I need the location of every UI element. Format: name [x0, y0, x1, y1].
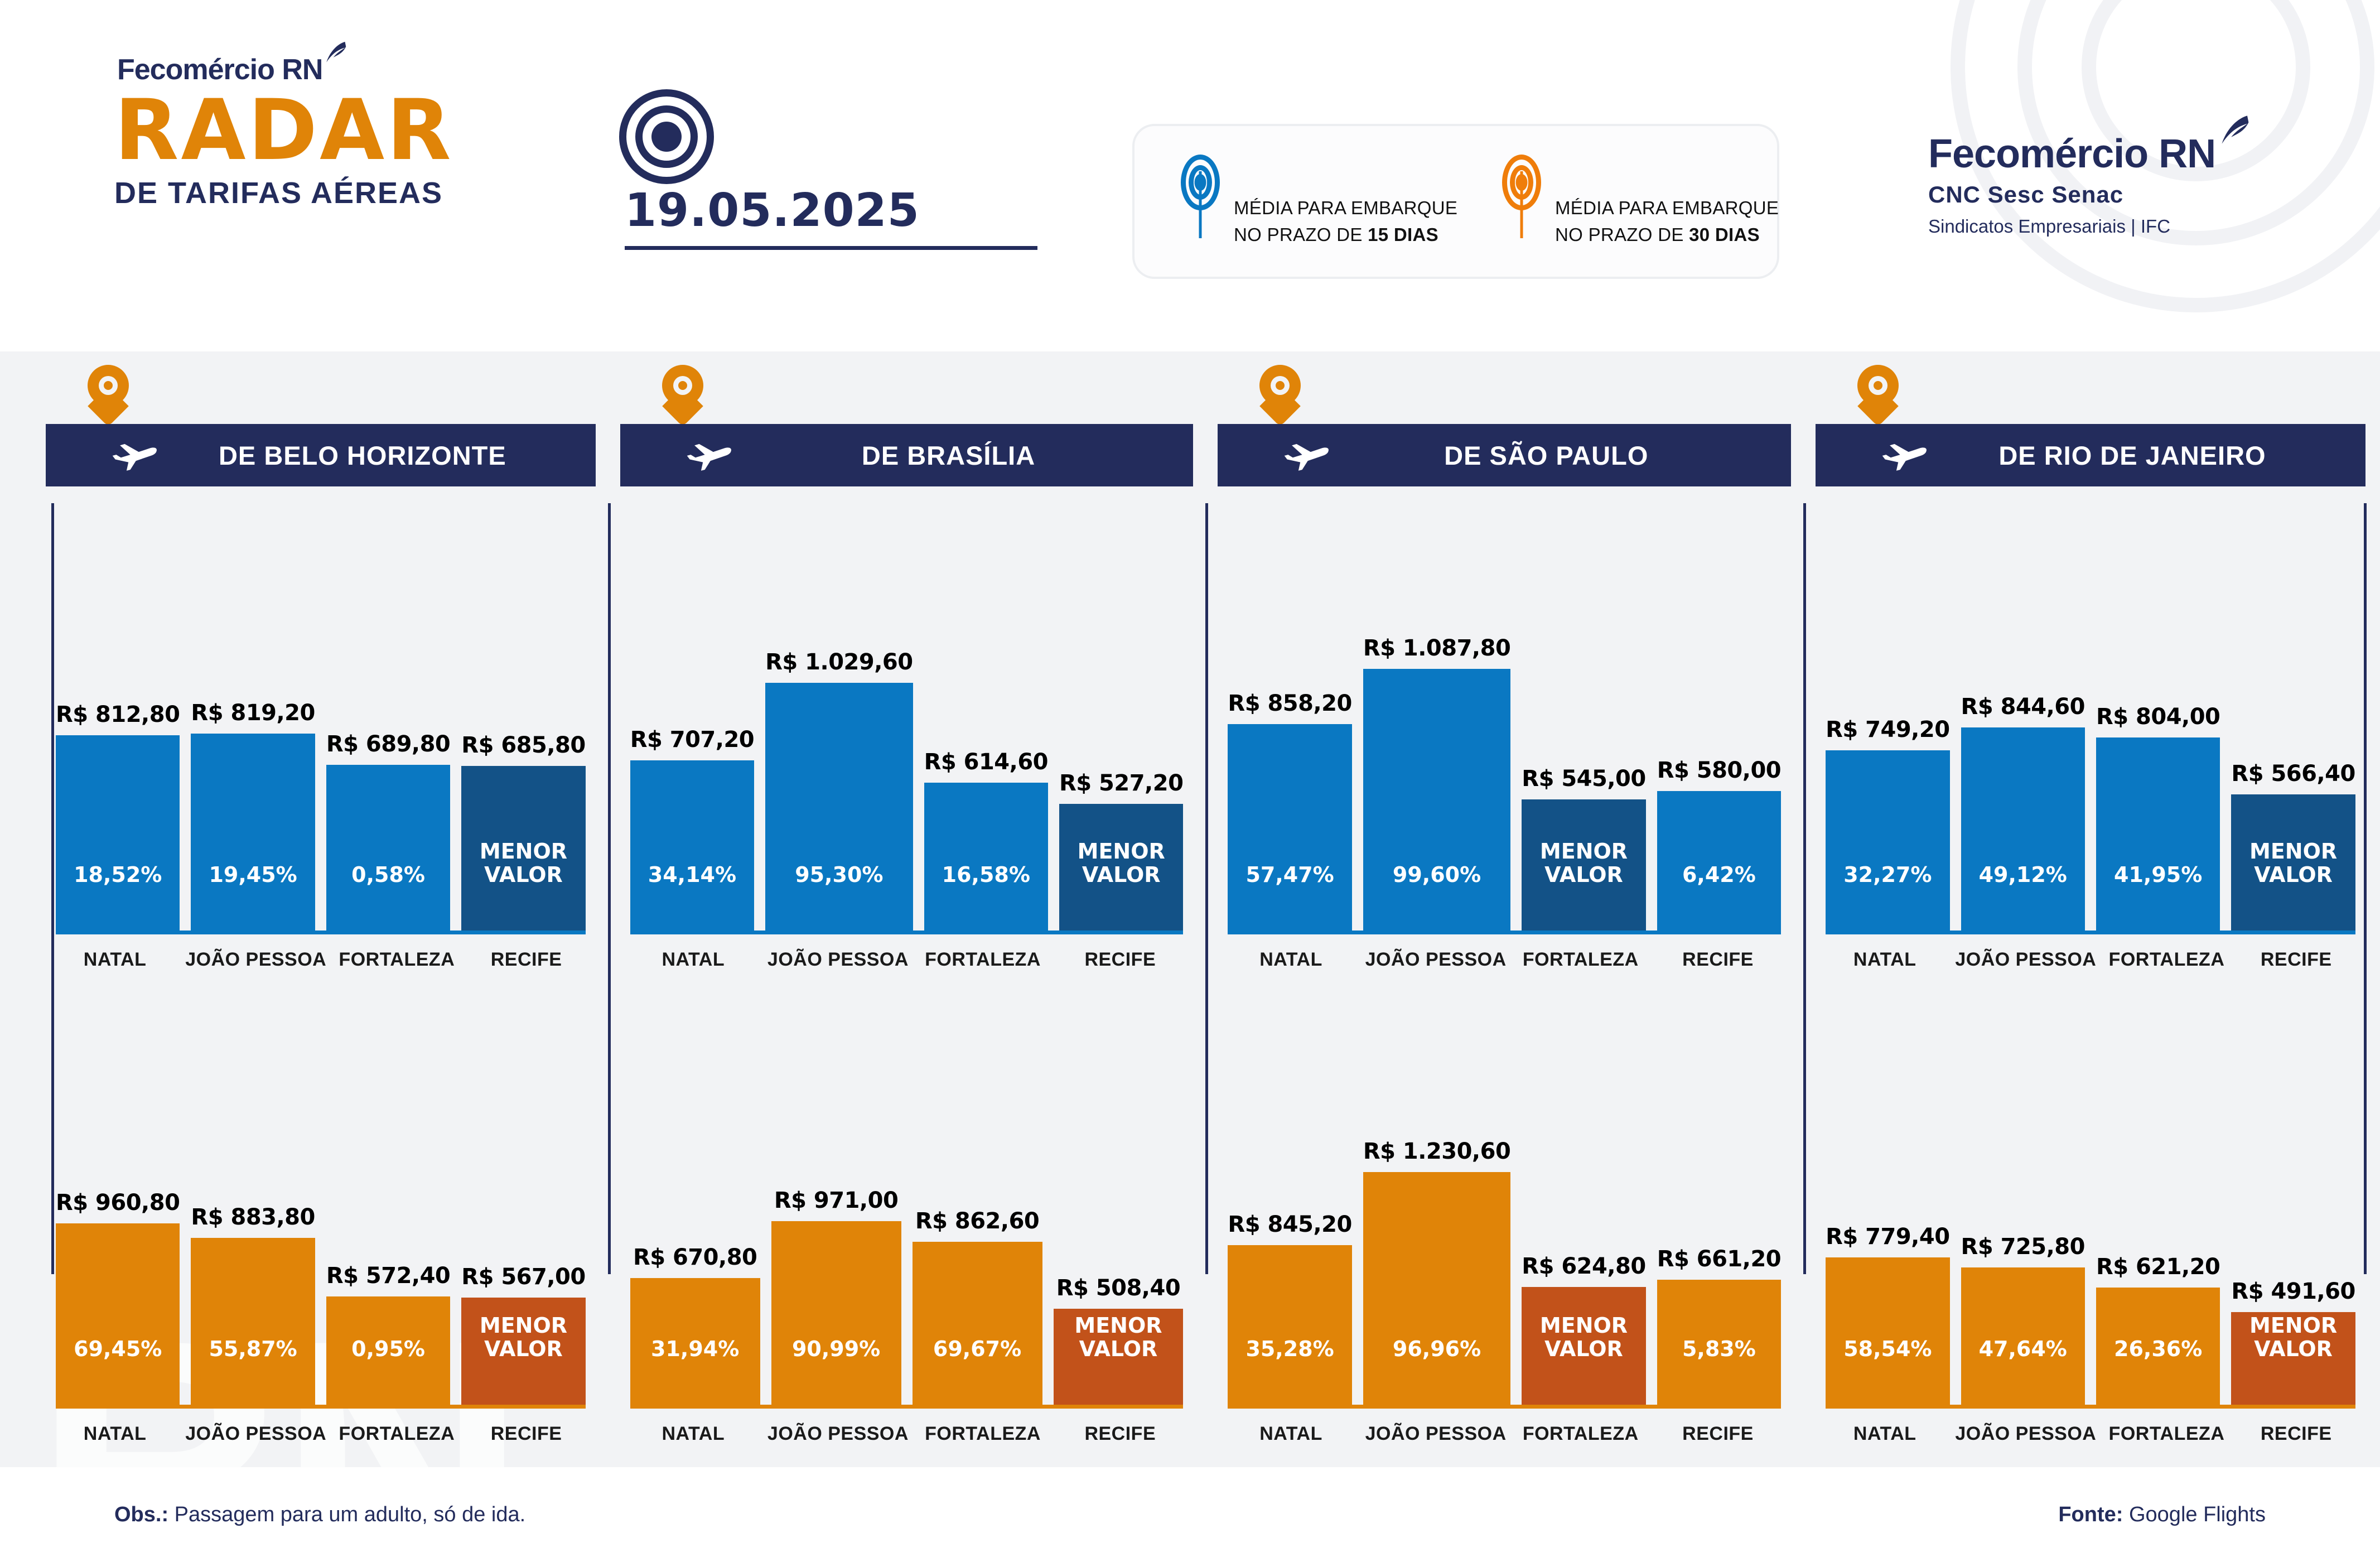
bar[interactable]: 34,14% — [630, 760, 754, 931]
category-label: JOÃO PESSOA — [185, 1423, 326, 1445]
brand-logo-left: Fecomércio RN RADAR DE TARIFAS AÉREAS — [114, 53, 672, 210]
bar-group: R$ 624,80 MENOR VALOR — [1522, 1254, 1645, 1405]
bar-value-label: R$ 491,60 — [2231, 1279, 2355, 1304]
brand-right-tagline: Sindicatos Empresariais | IFC — [1928, 216, 2285, 237]
legend-item-30-dias: MÉDIA PARA EMBARQUE NO PRAZO DE 30 DIAS — [1456, 155, 1777, 248]
page-subtitle: DE TARIFAS AÉREAS — [114, 176, 672, 210]
category-label: NATAL — [1228, 949, 1354, 971]
charts-sheet: RN DE BELO HORIZONTE R$ 812,80 18,52% — [0, 351, 2380, 1467]
chart-7: R$ 779,40 58,54% R$ 725,80 47,64% R$ 621… — [1816, 1054, 2365, 1445]
chart-0: R$ 812,80 18,52% R$ 819,20 19,45% R$ 689… — [46, 491, 596, 971]
axis-line — [1228, 1405, 1781, 1409]
legend-text-30-dias: MÉDIA PARA EMBARQUE NO PRAZO DE 30 DIAS — [1555, 155, 1779, 248]
bar-value-label: R$ 804,00 — [2096, 704, 2220, 730]
bar[interactable]: 99,60% — [1363, 669, 1510, 931]
date-underline — [625, 246, 1037, 250]
bar-group: R$ 491,60 MENOR VALOR — [2231, 1279, 2355, 1405]
legend-line1-30: MÉDIA PARA EMBARQUE — [1555, 195, 1779, 221]
bar-percent-label: MENOR VALOR — [1078, 840, 1165, 931]
bar-value-label: R$ 572,40 — [326, 1263, 450, 1289]
feather-icon — [324, 41, 347, 65]
brand-left-name: Fecomércio RN — [117, 53, 322, 86]
bar-group: R$ 779,40 58,54% — [1826, 1224, 1949, 1405]
bar-group: R$ 621,20 26,36% — [2096, 1254, 2220, 1405]
airplane-icon — [1881, 438, 1928, 472]
legend-line2-prefix-30: NO PRAZO DE — [1555, 224, 1689, 245]
bar[interactable]: 32,27% — [1826, 750, 1949, 931]
legend-card: MÉDIA PARA EMBARQUE NO PRAZO DE 15 DIAS … — [1132, 124, 1779, 279]
brand-right-name-row: Fecomércio RN — [1928, 131, 2285, 177]
category-label: RECIFE — [1057, 1423, 1183, 1445]
bar-value-label: R$ 685,80 — [461, 732, 585, 758]
radar-target-icon-orange — [1500, 155, 1543, 244]
bars-container: R$ 707,20 34,14% R$ 1.029,60 95,30% R$ 6… — [630, 649, 1184, 931]
bar-group: R$ 566,40 MENOR VALOR — [2231, 761, 2355, 931]
bar-value-label: R$ 725,80 — [1961, 1234, 2085, 1260]
bar[interactable]: 58,54% — [1826, 1257, 1949, 1405]
bar-value-label: R$ 527,20 — [1059, 770, 1183, 796]
bar-group: R$ 661,20 5,83% — [1657, 1246, 1781, 1405]
category-label: FORTALEZA — [2107, 949, 2225, 971]
bar-value-label: R$ 545,00 — [1522, 766, 1645, 792]
footer-note-label: Obs.: — [114, 1503, 168, 1526]
bar-value-label: R$ 614,60 — [924, 749, 1048, 775]
location-pin-icon — [88, 365, 129, 423]
bar-percent-label: 58,54% — [1843, 1337, 1932, 1405]
category-label: RECIFE — [467, 949, 585, 971]
bar-group: R$ 527,20 MENOR VALOR — [1059, 770, 1183, 931]
airplane-icon — [686, 438, 733, 472]
radar-target-icon — [616, 86, 717, 187]
location-pin-icon — [662, 365, 703, 423]
category-label: RECIFE — [2237, 1423, 2355, 1445]
origin-title-bar: DE RIO DE JANEIRO — [1816, 424, 2365, 486]
origin-title: DE BELO HORIZONTE — [163, 440, 579, 471]
bar-group: R$ 812,80 18,52% — [56, 702, 180, 931]
footer-note: Obs.: Passagem para um adulto, só de ida… — [114, 1503, 525, 1527]
bar-percent-label: MENOR VALOR — [2249, 1314, 2337, 1405]
axis-line — [1826, 1405, 2355, 1409]
bar[interactable]: MENOR VALOR — [1054, 1309, 1184, 1405]
bar-percent-label: 19,45% — [209, 863, 297, 931]
bar-group: R$ 670,80 31,94% — [630, 1245, 760, 1405]
bar-percent-label: MENOR VALOR — [2249, 840, 2337, 931]
bar-value-label: R$ 508,40 — [1056, 1275, 1180, 1301]
category-label: JOÃO PESSOA — [1955, 949, 2096, 971]
bar-percent-label: MENOR VALOR — [1540, 1314, 1628, 1405]
bars-container: R$ 779,40 58,54% R$ 725,80 47,64% R$ 621… — [1826, 1224, 2355, 1405]
bar[interactable]: MENOR VALOR — [1522, 1287, 1645, 1405]
axis-line — [1826, 931, 2355, 934]
location-pin-icon — [1857, 365, 1899, 423]
charts-columns: DE BELO HORIZONTE R$ 812,80 18,52% R$ 81… — [0, 351, 2380, 1467]
category-label: NATAL — [1826, 949, 1944, 971]
bar-group: R$ 707,20 34,14% — [630, 727, 754, 931]
bar-percent-label: 49,12% — [1979, 863, 2067, 931]
bar-percent-label: 34,14% — [648, 863, 736, 931]
brand-logo-right: Fecomércio RN CNC Sesc Senac Sindicatos … — [1928, 131, 2285, 237]
bar-percent-label: 69,45% — [74, 1337, 162, 1405]
bar-group: R$ 819,20 19,45% — [191, 700, 315, 931]
bar-value-label: R$ 812,80 — [56, 702, 180, 727]
bar[interactable]: MENOR VALOR — [1522, 799, 1645, 931]
bar[interactable]: 5,83% — [1657, 1280, 1781, 1405]
bar-group: R$ 614,60 16,58% — [924, 749, 1048, 931]
category-label: FORTALEZA — [337, 949, 456, 971]
bar[interactable]: 18,52% — [56, 735, 180, 931]
axis-line — [630, 1405, 1184, 1409]
column-header: DE BRASÍLIA — [620, 351, 1194, 491]
bar-group: R$ 545,00 MENOR VALOR — [1522, 766, 1645, 931]
origin-title-bar: DE BELO HORIZONTE — [46, 424, 596, 486]
bar-value-label: R$ 689,80 — [326, 731, 450, 757]
airplane-icon — [112, 438, 158, 472]
origin-title: DE RIO DE JANEIRO — [1933, 440, 2349, 471]
category-label: FORTALEZA — [2107, 1423, 2225, 1445]
bar-group: R$ 580,00 6,42% — [1657, 758, 1781, 931]
origin-title: DE BRASÍLIA — [737, 440, 1177, 471]
category-label: NATAL — [630, 949, 756, 971]
categories-row: NATALJOÃO PESSOAFORTALEZARECIFE — [1826, 949, 2355, 971]
bar-value-label: R$ 580,00 — [1657, 758, 1781, 783]
categories-row: NATALJOÃO PESSOAFORTALEZARECIFE — [1228, 949, 1781, 971]
bar-percent-label: 18,52% — [74, 863, 162, 931]
bar[interactable]: 69,45% — [56, 1223, 180, 1405]
bar[interactable]: 90,99% — [771, 1221, 901, 1405]
bar[interactable]: 49,12% — [1961, 727, 2085, 931]
bar-percent-label: 96,96% — [1393, 1337, 1481, 1405]
category-label: JOÃO PESSOA — [767, 949, 909, 971]
bar-group: R$ 508,40 MENOR VALOR — [1054, 1275, 1184, 1405]
bar-group: R$ 725,80 47,64% — [1961, 1234, 2085, 1405]
legend-line2-bold-30: 30 DIAS — [1689, 224, 1760, 245]
page-header: Fecomércio RN RADAR DE TARIFAS AÉREAS 19… — [0, 0, 2380, 351]
origin-column-3: DE SÃO PAULO R$ 858,20 57,47% R$ 1.087,8… — [1205, 351, 1803, 1467]
chart-1: R$ 707,20 34,14% R$ 1.029,60 95,30% R$ 6… — [620, 491, 1194, 971]
airplane-icon — [1283, 438, 1330, 472]
bar-percent-label: 16,58% — [942, 863, 1030, 931]
origin-title-bar: DE SÃO PAULO — [1218, 424, 1791, 486]
column-header: DE RIO DE JANEIRO — [1816, 351, 2365, 491]
bar-value-label: R$ 858,20 — [1228, 691, 1351, 716]
origin-column-2: DE BRASÍLIA R$ 707,20 34,14% R$ 1.029,60… — [608, 351, 1206, 1467]
bar-group: R$ 971,00 90,99% — [771, 1188, 901, 1405]
bar-group: R$ 862,60 69,67% — [913, 1208, 1042, 1405]
bar-percent-label: 0,95% — [351, 1337, 425, 1405]
legend-line2-prefix-15: NO PRAZO DE — [1234, 224, 1368, 245]
bars-container: R$ 858,20 57,47% R$ 1.087,80 99,60% R$ 5… — [1228, 635, 1781, 931]
bar-value-label: R$ 624,80 — [1522, 1254, 1645, 1279]
axis-line — [1228, 931, 1781, 934]
bar-value-label: R$ 621,20 — [2096, 1254, 2220, 1280]
categories-row: NATALJOÃO PESSOAFORTALEZARECIFE — [1228, 1423, 1781, 1445]
bar-value-label: R$ 971,00 — [774, 1188, 898, 1213]
bar-group: R$ 1.029,60 95,30% — [765, 649, 913, 931]
footer-source-label: Fonte: — [2058, 1503, 2123, 1526]
bar-value-label: R$ 1.087,80 — [1363, 635, 1510, 661]
bar[interactable]: MENOR VALOR — [1059, 804, 1183, 931]
category-label: RECIFE — [1655, 1423, 1781, 1445]
bar-percent-label: 90,99% — [792, 1337, 880, 1405]
bar-group: R$ 749,20 32,27% — [1826, 717, 1949, 931]
brand-right-name: Fecomércio RN — [1928, 131, 2215, 177]
radar-target-icon-blue — [1179, 155, 1222, 244]
bar[interactable]: MENOR VALOR — [2231, 794, 2355, 931]
brand-right-entities: CNC Sesc Senac — [1928, 181, 2285, 208]
bar-value-label: R$ 960,80 — [56, 1190, 180, 1216]
bars-container: R$ 670,80 31,94% R$ 971,00 90,99% R$ 862… — [630, 1188, 1184, 1405]
category-label: RECIFE — [2237, 949, 2355, 971]
bar-percent-label: 95,30% — [795, 863, 883, 931]
bar-value-label: R$ 661,20 — [1657, 1246, 1781, 1272]
chart-2: R$ 858,20 57,47% R$ 1.087,80 99,60% R$ 5… — [1218, 491, 1791, 971]
bar-percent-label: 99,60% — [1393, 863, 1481, 931]
bar-value-label: R$ 566,40 — [2231, 761, 2355, 787]
report-date: 19.05.2025 — [625, 184, 1037, 237]
categories-row: NATALJOÃO PESSOAFORTALEZARECIFE — [56, 1423, 586, 1445]
category-label: NATAL — [630, 1423, 756, 1445]
category-label: FORTALEZA — [1518, 1423, 1644, 1445]
bar-percent-label: MENOR VALOR — [1540, 840, 1628, 931]
bar-group: R$ 689,80 0,58% — [326, 731, 450, 931]
footer-source: Fonte: Google Flights — [2058, 1503, 2266, 1527]
bar-value-label: R$ 670,80 — [633, 1245, 757, 1270]
chart-6: R$ 845,20 35,28% R$ 1.230,60 96,96% R$ 6… — [1218, 1054, 1791, 1445]
bar-value-label: R$ 567,00 — [461, 1264, 585, 1290]
chart-spacer — [1816, 971, 2365, 1054]
report-date-block: 19.05.2025 — [625, 184, 1037, 250]
bar-group: R$ 844,60 49,12% — [1961, 694, 2085, 931]
bars-container: R$ 749,20 32,27% R$ 844,60 49,12% R$ 804… — [1826, 694, 2355, 931]
category-label: FORTALEZA — [920, 1423, 1046, 1445]
category-label: JOÃO PESSOA — [185, 949, 326, 971]
category-label: FORTALEZA — [1518, 949, 1644, 971]
chart-4: R$ 960,80 69,45% R$ 883,80 55,87% R$ 572… — [46, 1054, 596, 1445]
bar-percent-label: 5,83% — [1682, 1337, 1756, 1405]
category-label: FORTALEZA — [337, 1423, 456, 1445]
bar-value-label: R$ 819,20 — [191, 700, 315, 726]
origin-title-bar: DE BRASÍLIA — [620, 424, 1194, 486]
bar[interactable]: 55,87% — [191, 1238, 315, 1405]
bar[interactable]: MENOR VALOR — [461, 1298, 585, 1405]
category-label: JOÃO PESSOA — [1365, 949, 1507, 971]
legend-text-15-dias: MÉDIA PARA EMBARQUE NO PRAZO DE 15 DIAS — [1234, 155, 1457, 248]
bar[interactable]: 31,94% — [630, 1278, 760, 1405]
bar-percent-label: 69,67% — [933, 1337, 1021, 1405]
bar-group: R$ 883,80 55,87% — [191, 1204, 315, 1405]
chart-5: R$ 670,80 31,94% R$ 971,00 90,99% R$ 862… — [620, 1054, 1194, 1445]
bar-percent-label: MENOR VALOR — [480, 840, 567, 931]
category-label: JOÃO PESSOA — [767, 1423, 909, 1445]
bars-container: R$ 845,20 35,28% R$ 1.230,60 96,96% R$ 6… — [1228, 1139, 1781, 1405]
bar[interactable]: 6,42% — [1657, 791, 1781, 931]
column-header: DE BELO HORIZONTE — [46, 351, 596, 491]
category-label: JOÃO PESSOA — [1365, 1423, 1507, 1445]
categories-row: NATALJOÃO PESSOAFORTALEZARECIFE — [630, 1423, 1184, 1445]
bar[interactable]: 41,95% — [2096, 737, 2220, 931]
bar-value-label: R$ 1.029,60 — [765, 649, 913, 675]
location-pin-icon — [1259, 365, 1301, 423]
chart-spacer — [1218, 971, 1791, 1054]
bar-value-label: R$ 845,20 — [1228, 1212, 1351, 1237]
bar-percent-label: 26,36% — [2114, 1337, 2202, 1405]
bar-percent-label: 35,28% — [1245, 1337, 1334, 1405]
bar[interactable]: MENOR VALOR — [461, 766, 585, 931]
bar-percent-label: MENOR VALOR — [480, 1314, 567, 1405]
bar-percent-label: 6,42% — [1682, 863, 1756, 931]
bar-group: R$ 685,80 MENOR VALOR — [461, 732, 585, 931]
origin-column-1: DE BELO HORIZONTE R$ 812,80 18,52% R$ 81… — [33, 351, 608, 1467]
axis-line — [56, 931, 586, 934]
brand-left-name-row: Fecomércio RN — [117, 53, 672, 86]
bar-value-label: R$ 883,80 — [191, 1204, 315, 1230]
bar-value-label: R$ 779,40 — [1826, 1224, 1949, 1250]
footer-source-text: Google Flights — [2123, 1503, 2266, 1526]
bar-group: R$ 845,20 35,28% — [1228, 1212, 1351, 1405]
bar[interactable]: 19,45% — [191, 734, 315, 931]
categories-row: NATALJOÃO PESSOAFORTALEZARECIFE — [630, 949, 1184, 971]
bar[interactable]: 57,47% — [1228, 724, 1351, 931]
chart-spacer — [46, 971, 596, 1054]
axis-line — [630, 931, 1184, 934]
bar-group: R$ 572,40 0,95% — [326, 1263, 450, 1405]
bar-group: R$ 567,00 MENOR VALOR — [461, 1264, 585, 1405]
legend-line2-bold-15: 15 DIAS — [1368, 224, 1438, 245]
bar-value-label: R$ 844,60 — [1961, 694, 2085, 720]
bar-value-label: R$ 707,20 — [630, 727, 754, 753]
footer-note-text: Passagem para um adulto, só de ida. — [168, 1503, 525, 1526]
bar[interactable]: 16,58% — [924, 783, 1048, 931]
page-title: RADAR — [114, 89, 672, 172]
axis-line — [56, 1405, 586, 1409]
bar-group: R$ 960,80 69,45% — [56, 1190, 180, 1405]
bar-percent-label: 0,58% — [351, 863, 425, 931]
chart-3: R$ 749,20 32,27% R$ 844,60 49,12% R$ 804… — [1816, 491, 2365, 971]
legend-item-15-dias: MÉDIA PARA EMBARQUE NO PRAZO DE 15 DIAS — [1135, 155, 1456, 248]
category-label: NATAL — [1228, 1423, 1354, 1445]
bar-value-label: R$ 1.230,60 — [1363, 1139, 1510, 1164]
bar-group: R$ 1.087,80 99,60% — [1363, 635, 1510, 931]
category-label: RECIFE — [467, 1423, 585, 1445]
bars-container: R$ 960,80 69,45% R$ 883,80 55,87% R$ 572… — [56, 1190, 586, 1405]
bar[interactable]: 26,36% — [2096, 1288, 2220, 1405]
column-header: DE SÃO PAULO — [1218, 351, 1791, 491]
bar[interactable]: 0,95% — [326, 1296, 450, 1405]
bars-container: R$ 812,80 18,52% R$ 819,20 19,45% R$ 689… — [56, 700, 586, 931]
category-label: FORTALEZA — [920, 949, 1046, 971]
bar-value-label: R$ 749,20 — [1826, 717, 1949, 743]
bar-group: R$ 804,00 41,95% — [2096, 704, 2220, 931]
category-label: NATAL — [56, 1423, 174, 1445]
bar[interactable]: 0,58% — [326, 765, 450, 931]
bar-percent-label: 57,47% — [1245, 863, 1334, 931]
category-label: NATAL — [1826, 1423, 1944, 1445]
bar[interactable]: 69,67% — [913, 1242, 1042, 1405]
categories-row: NATALJOÃO PESSOAFORTALEZARECIFE — [1826, 1423, 2355, 1445]
bar[interactable]: 35,28% — [1228, 1245, 1351, 1405]
categories-row: NATALJOÃO PESSOAFORTALEZARECIFE — [56, 949, 586, 971]
bar[interactable]: 96,96% — [1363, 1172, 1510, 1405]
bar-percent-label: 55,87% — [209, 1337, 297, 1405]
category-label: RECIFE — [1057, 949, 1183, 971]
bar-percent-label: 47,64% — [1979, 1337, 2067, 1405]
legend-line1-15: MÉDIA PARA EMBARQUE — [1234, 195, 1457, 221]
category-label: NATAL — [56, 949, 174, 971]
page-footer: Obs.: Passagem para um adulto, só de ida… — [0, 1467, 2380, 1562]
category-label: JOÃO PESSOA — [1955, 1423, 2096, 1445]
category-label: RECIFE — [1655, 949, 1781, 971]
bar-percent-label: MENOR VALOR — [1074, 1314, 1162, 1405]
chart-spacer — [620, 971, 1194, 1054]
bar[interactable]: MENOR VALOR — [2231, 1312, 2355, 1405]
feather-icon-right — [2218, 114, 2250, 148]
origin-column-4: DE RIO DE JANEIRO R$ 749,20 32,27% R$ 84… — [1803, 351, 2378, 1467]
bar-group: R$ 858,20 57,47% — [1228, 691, 1351, 931]
origin-title: DE SÃO PAULO — [1335, 440, 1774, 471]
bar-percent-label: 41,95% — [2114, 863, 2202, 931]
bar-percent-label: 32,27% — [1843, 863, 1932, 931]
bar[interactable]: 47,64% — [1961, 1267, 2085, 1405]
bar[interactable]: 95,30% — [765, 683, 913, 931]
bar-percent-label: 31,94% — [651, 1337, 739, 1405]
bar-group: R$ 1.230,60 96,96% — [1363, 1139, 1510, 1405]
bar-value-label: R$ 862,60 — [915, 1208, 1039, 1234]
